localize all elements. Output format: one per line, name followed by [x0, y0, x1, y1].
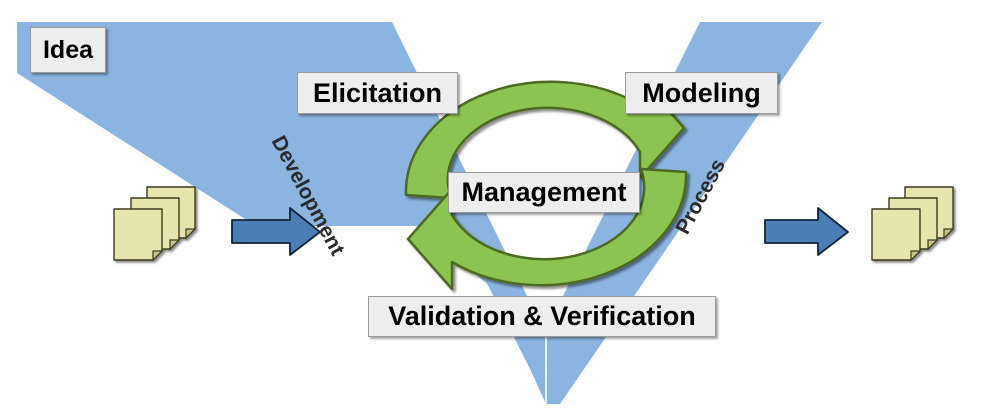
output-document-stack [872, 187, 953, 260]
label-box-modeling[interactable]: Modeling [625, 72, 778, 114]
label-box-validation-verification[interactable]: Validation & Verification [368, 296, 716, 337]
label-box-idea[interactable]: Idea [30, 27, 106, 73]
document-page-front [872, 209, 920, 260]
label-box-elicitation[interactable]: Elicitation [297, 72, 458, 114]
output-flow-arrow [765, 208, 848, 255]
input-document-stack [114, 187, 195, 260]
diagram-canvas: Idea Elicitation Modeling Management Val… [0, 0, 982, 416]
right-arrow-icon [765, 208, 848, 255]
document-page-front [114, 209, 162, 260]
label-box-management[interactable]: Management [448, 172, 640, 213]
